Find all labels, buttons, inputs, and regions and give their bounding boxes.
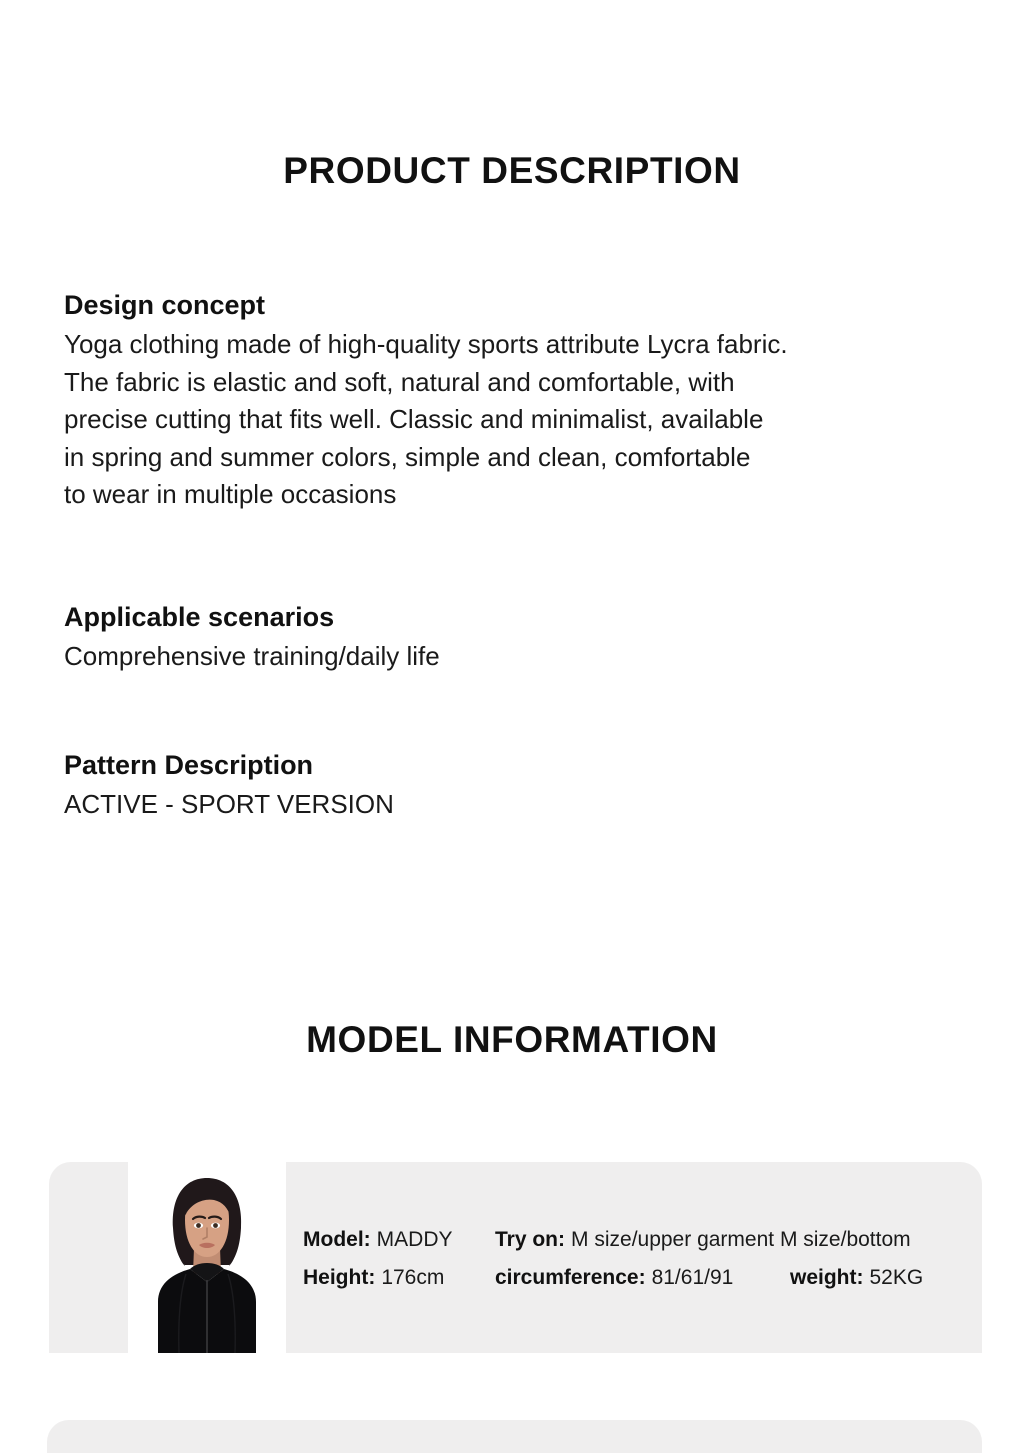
model-specs-row-2: Height: 176cm circumference: 81/61/91 we… [303,1266,979,1304]
try-on-value: M size/upper garment M size/bottom [571,1228,911,1252]
weight-value: 52KG [870,1266,924,1290]
model-name-value: MADDY [377,1228,453,1252]
model-specs-row-1: Model: MADDY Try on: M size/upper garmen… [303,1228,979,1266]
pattern-description-heading: Pattern Description [64,748,1004,782]
pattern-description-body: ACTIVE - SPORT VERSION [64,786,1004,824]
design-concept-heading: Design concept [64,288,1004,322]
model-information-card: Model: MADDY Try on: M size/upper garmen… [49,1162,982,1353]
model-photo [128,1162,286,1353]
circumference-cell: circumference: 81/61/91 [495,1266,790,1290]
height-cell: Height: 176cm [303,1266,495,1290]
applicable-scenarios-body: Comprehensive training/daily life [64,638,1004,676]
pattern-description-section: Pattern Description ACTIVE - SPORT VERSI… [64,748,1004,824]
try-on-label: Try on: [495,1228,565,1252]
circumference-label: circumference: [495,1266,646,1290]
design-concept-section: Design concept Yoga clothing made of hig… [64,288,1004,514]
model-specs-table: Model: MADDY Try on: M size/upper garmen… [303,1228,979,1304]
product-description-title: PRODUCT DESCRIPTION [0,150,1024,192]
next-section-panel [47,1420,982,1453]
model-name-label: Model: [303,1228,371,1252]
height-value: 176cm [381,1266,444,1290]
model-name-cell: Model: MADDY [303,1228,495,1252]
model-information-title: MODEL INFORMATION [0,1019,1024,1061]
model-portrait-icon [128,1162,286,1353]
product-description-page: PRODUCT DESCRIPTION Design concept Yoga … [0,0,1024,1453]
applicable-scenarios-heading: Applicable scenarios [64,600,1004,634]
circumference-value: 81/61/91 [652,1266,734,1290]
design-concept-body: Yoga clothing made of high-quality sport… [64,326,1004,514]
weight-cell: weight: 52KG [790,1266,923,1290]
height-label: Height: [303,1266,375,1290]
try-on-cell: Try on: M size/upper garment M size/bott… [495,1228,911,1252]
weight-label: weight: [790,1266,864,1290]
applicable-scenarios-section: Applicable scenarios Comprehensive train… [64,600,1004,676]
